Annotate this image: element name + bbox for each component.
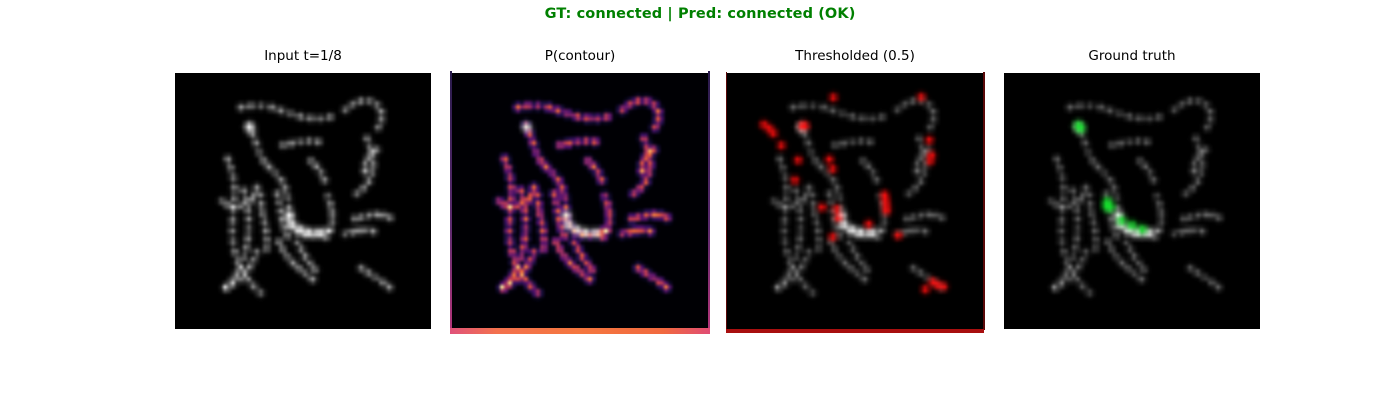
panel-probability: P(contour) — [452, 73, 708, 329]
ground-truth-image-canvas — [1004, 73, 1260, 329]
figure-suptitle: GT: connected | Pred: connected (OK) — [0, 6, 1400, 22]
thresholded-image-canvas — [727, 73, 983, 329]
panel-ground-truth-image — [1004, 73, 1260, 329]
figure-canvas: GT: connected | Pred: connected (OK) Inp… — [0, 0, 1400, 400]
panel-probability-image — [452, 73, 708, 329]
thresholded-spine-right — [983, 72, 985, 330]
thresholded-spine-left — [726, 72, 728, 330]
panel-ground-truth-title: Ground truth — [984, 48, 1280, 64]
panel-input-image — [175, 73, 431, 329]
panel-input: Input t=1/8 — [175, 73, 431, 329]
probability-spine-right — [708, 71, 710, 331]
probability-image-canvas — [452, 73, 708, 329]
panel-thresholded-image — [727, 73, 983, 329]
thresholded-spine-bottom — [726, 329, 984, 333]
panel-thresholded: Thresholded (0.5) — [727, 73, 983, 329]
probability-spine-bottom — [450, 328, 710, 334]
panel-thresholded-title: Thresholded (0.5) — [707, 48, 1003, 64]
probability-spine-left — [450, 71, 452, 331]
panel-input-title: Input t=1/8 — [155, 48, 451, 64]
panel-ground-truth: Ground truth — [1004, 73, 1260, 329]
panel-probability-title: P(contour) — [432, 48, 728, 64]
input-image-canvas — [175, 73, 431, 329]
